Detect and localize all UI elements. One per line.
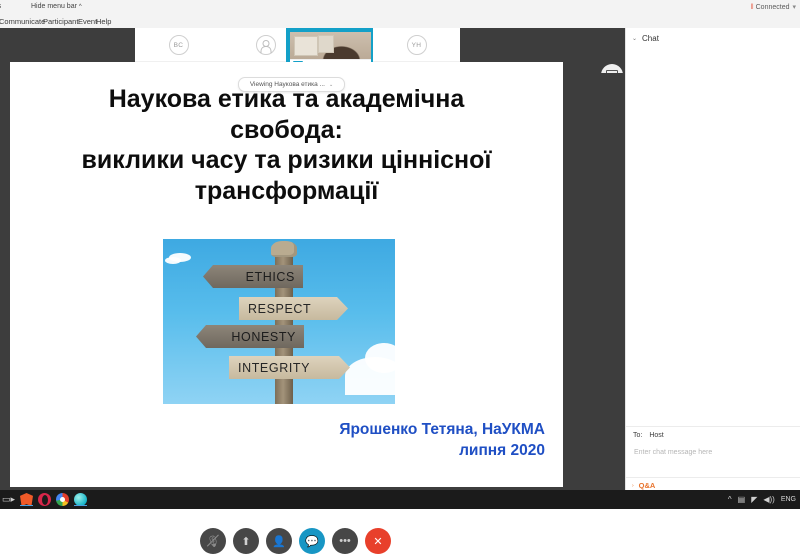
qa-panel-title: Q&A [639,481,656,490]
connection-dot-icon: ‖ [751,4,754,11]
viewing-label: Viewing Наукова етика ... [250,81,325,88]
slide-title-line-3: виклики часу та ризики ціннісної [32,145,541,176]
menu-item-help[interactable]: Help [96,17,111,26]
slide-canvas[interactable]: Наукова етика та академічна свобода: вик… [10,62,563,487]
more-button[interactable]: ••• [332,528,358,554]
webex-event-window: ents Hide menu bar^ ‖Connected▾ Communic… [0,0,800,509]
taskbar-app-icons: ▭▸ [2,490,87,509]
avatar-area: YH [373,28,460,62]
system-tray: ^ ▤ ◤ ◀)) ENG [728,490,796,509]
sign-ethics: ETHICS [203,265,303,288]
hide-menu-bar-button[interactable]: Hide menu bar^ [31,3,82,10]
chat-panel-title: Chat [642,34,659,43]
hide-menu-bar-label: Hide menu bar [31,3,77,10]
slide-date: липня 2020 [190,442,545,460]
end-call-button[interactable]: ✕ [365,528,391,554]
slide-title-line-2: свобода: [32,115,541,146]
participants-icon: 👤 [272,535,286,548]
sign-honesty: HONESTY [196,325,304,348]
chat-input[interactable]: Enter chat message here [626,443,800,477]
chat-message-list[interactable] [626,48,800,423]
chat-recipient-row[interactable]: To: Host [626,426,800,444]
chat-bubble-icon: 💬 [305,535,319,548]
language-indicator[interactable]: ENG [781,496,796,503]
menu-bar: Communicate Participant Event Help [0,14,800,29]
avatar-initials: BC [169,35,189,55]
slide-title-line-4: трансформації [32,176,541,207]
chevron-up-icon: ^ [79,4,82,10]
avatar-area: BC [135,28,222,62]
avatar-initials: YH [407,35,427,55]
signpost-image: ETHICS RESPECT HONESTY INTEGRITY [163,239,395,404]
camera-icon[interactable]: ▭▸ [2,493,15,506]
call-toolbar: 🎙 ⬆ 👤 💬 ••• ✕ [200,528,391,554]
cloud-shape-2 [165,257,181,264]
slide-author: Ярошенко Тетяна, НаУКМА [190,420,545,441]
sign-ethics-label: ETHICS [246,270,295,284]
chevron-down-icon: ⌄ [632,35,637,42]
volume-icon[interactable]: ◤ [751,495,757,504]
presentation-stage: Наукова етика та академічна свобода: вик… [0,73,625,490]
chevron-down-icon: ⌄ [329,82,333,88]
video-background-panel [294,36,318,56]
person-icon [256,35,276,55]
window-title-bar: ents Hide menu bar^ ‖Connected▾ [0,0,800,15]
connection-status-label: Connected [756,4,790,11]
sign-respect-label: RESPECT [248,302,311,316]
chat-panel: ⌄ Chat To: Host Enter chat message here … [625,28,800,490]
signpost-post-top [271,241,297,257]
sign-integrity-label: INTEGRITY [238,361,310,375]
chrome-icon[interactable] [56,493,69,506]
windows-taskbar: ▭▸ ^ ▤ ◤ ◀)) ENG [0,490,800,509]
sign-integrity: INTEGRITY [229,356,350,379]
window-left-label: ents [0,3,1,10]
share-screen-icon: ⬆ [241,535,250,548]
menu-item-event[interactable]: Event [78,17,97,26]
taskbar-active-underline-2 [74,505,87,507]
sign-honesty-label: HONESTY [231,330,296,344]
menu-item-communicate[interactable]: Communicate [0,17,45,26]
chevron-right-icon: › [632,483,634,489]
participant-video-feed [290,32,373,62]
menu-item-participant[interactable]: Participant [43,17,78,26]
chat-to-label: To: [633,432,642,439]
video-background-panel-2 [318,35,334,53]
chevron-down-icon: ▾ [792,4,796,11]
more-options-icon: ••• [339,535,351,547]
viewing-indicator[interactable]: Viewing Наукова етика ... ⌄ [238,77,345,92]
connection-status[interactable]: ‖Connected▾ [751,3,796,11]
sign-respect: RESPECT [239,297,348,320]
chat-button[interactable]: 💬 [299,528,325,554]
network-icon[interactable]: ▤ [738,495,746,504]
participants-button[interactable]: 👤 [266,528,292,554]
chat-to-value: Host [649,432,663,439]
opera-icon[interactable] [38,493,51,506]
close-icon: ✕ [373,535,382,548]
cloud-shape-4 [365,343,395,373]
chat-panel-header[interactable]: ⌄ Chat [626,28,800,49]
mute-button[interactable]: 🎙 [200,528,226,554]
taskbar-active-underline [20,505,33,507]
slide-title: Наукова етика та академічна свобода: вик… [32,84,541,206]
speaker-icon[interactable]: ◀)) [763,495,774,504]
share-button[interactable]: ⬆ [233,528,259,554]
chevron-up-icon[interactable]: ^ [728,495,732,504]
